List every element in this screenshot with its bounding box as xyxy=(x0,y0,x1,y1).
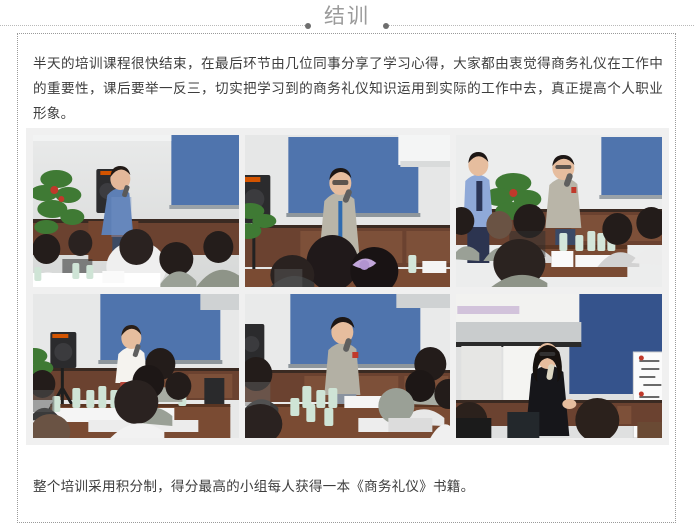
gallery-photo-6[interactable] xyxy=(456,294,662,438)
photo-5-artwork xyxy=(245,294,451,438)
photo-1-artwork xyxy=(33,135,239,287)
gallery-photo-4[interactable] xyxy=(33,294,239,438)
gallery-photo-3[interactable] xyxy=(456,135,662,287)
intro-paragraph: 半天的培训课程很快结束，在最后环节由几位同事分享了学习心得，大家都由衷觉得商务礼… xyxy=(33,51,663,126)
gallery-photo-2[interactable] xyxy=(245,135,451,287)
photo-4-artwork xyxy=(33,294,239,438)
gallery-photo-5[interactable] xyxy=(245,294,451,438)
content-frame: 半天的培训课程很快结束，在最后环节由几位同事分享了学习心得，大家都由衷觉得商务礼… xyxy=(17,33,676,523)
photo-3-artwork xyxy=(456,135,662,287)
closing-paragraph: 整个培训采用积分制，得分最高的小组每人获得一本《商务礼仪》书籍。 xyxy=(33,474,663,499)
header-dotted-rule-right xyxy=(389,25,694,27)
photo-6-artwork xyxy=(456,294,662,438)
section-header: 结训 xyxy=(0,0,694,34)
gallery-photo-1[interactable] xyxy=(33,135,239,287)
gallery-row-2 xyxy=(33,294,662,438)
page-title: 结训 xyxy=(311,5,383,29)
photo-2-artwork xyxy=(245,135,451,287)
header-dotted-rule-left xyxy=(0,25,305,27)
photo-gallery xyxy=(26,128,669,445)
bullet-dot-icon-left xyxy=(305,23,311,29)
gallery-row-1 xyxy=(33,135,662,287)
